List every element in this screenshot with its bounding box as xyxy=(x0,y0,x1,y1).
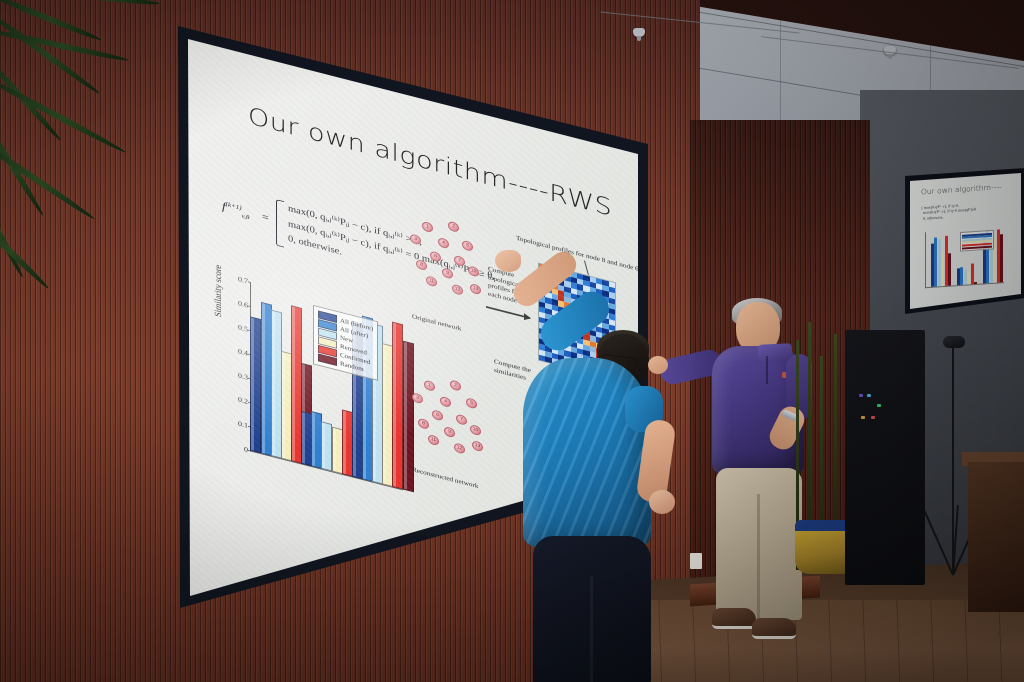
network-node: 6 xyxy=(432,409,443,421)
chart-plot-area: 00.10.20.30.40.50.60.7 All (before)All (… xyxy=(250,282,403,490)
conference-room-scene: Our own algorithm----RWS f(k+1)v,θ = max… xyxy=(0,0,1024,682)
network-node: 8 xyxy=(416,259,427,271)
network-node: 8 xyxy=(418,418,429,430)
network-node: 6 xyxy=(430,250,441,262)
network-node: 1 xyxy=(422,221,433,233)
original-network-label: Original network xyxy=(412,313,461,332)
monitor-slide-content: Our own algorithm---- { max(0,qⁱPⁱ−c), i… xyxy=(915,177,1019,299)
palm-plant-left xyxy=(0,0,170,312)
wooden-podium xyxy=(968,462,1024,612)
chart-tick-mark xyxy=(248,306,251,308)
presenter-1-pointing-hand xyxy=(495,250,521,272)
polo-placket xyxy=(766,356,768,384)
monitor-chart-bar xyxy=(974,281,977,284)
equation-brace xyxy=(276,199,284,247)
monitor-bar-chart xyxy=(925,227,1004,288)
network-node: 5 xyxy=(462,240,473,252)
wall-outlet xyxy=(690,553,702,569)
network-node: 3 xyxy=(410,233,421,245)
presenter-1-hand xyxy=(649,490,675,514)
chart-y-tick: 0.5 xyxy=(238,323,248,333)
network-node: 9 xyxy=(442,267,453,279)
chart-y-tick: 0.2 xyxy=(238,395,248,405)
av-equipment-rack xyxy=(845,330,925,585)
network-node: 13 xyxy=(470,283,481,295)
network-node: 10 xyxy=(468,265,479,277)
slide-title: Our own algorithm----RWS xyxy=(248,103,612,223)
network-node: 3 xyxy=(412,392,423,404)
network-node: 12 xyxy=(454,442,465,454)
monitor-chart-bar xyxy=(948,253,951,285)
secondary-monitor[interactable]: Our own algorithm---- { max(0,qⁱPⁱ−c), i… xyxy=(905,168,1024,316)
camera-icon xyxy=(943,336,965,348)
monitor-chart-bar xyxy=(1000,234,1003,282)
shoe-left xyxy=(712,608,756,629)
network-node: 13 xyxy=(472,440,483,452)
network-node: 10 xyxy=(470,424,481,436)
network-node: 4 xyxy=(440,396,451,408)
monitor-chart-legend xyxy=(960,230,994,252)
network-node: 11 xyxy=(428,434,439,446)
network-node: 2 xyxy=(448,221,459,233)
chart-tick-mark xyxy=(248,281,251,283)
presenter-1-lowered-arm xyxy=(625,386,669,502)
network-node: 2 xyxy=(450,379,461,391)
network-node: 1 xyxy=(424,380,435,392)
network-node: 7 xyxy=(454,255,465,267)
similarity-score-bar-chart: Similarity score 00.10.20.30.40.50.60.7 … xyxy=(220,269,410,515)
monitor-slide-title: Our own algorithm---- xyxy=(921,182,1002,196)
chart-y-tick: 0.4 xyxy=(238,347,248,357)
chart-y-axis-label: Similarity score xyxy=(214,264,224,319)
monitor-equation: { max(0,qⁱPⁱ−c), if q>0, max(0,qⁱPⁱ−c), … xyxy=(921,202,976,221)
network-node: 9 xyxy=(444,426,455,438)
equation-equals: = xyxy=(262,210,269,225)
chart-legend: All (before)All (after)NewRemovedConfirm… xyxy=(313,305,378,381)
network-node: 5 xyxy=(466,397,477,409)
chart-y-tick: 0.1 xyxy=(238,419,248,429)
polo-collar xyxy=(758,343,793,361)
network-node: 4 xyxy=(438,237,449,249)
presenter-1-dark-trousers xyxy=(533,536,651,682)
chart-y-tick: 0.7 xyxy=(238,275,248,285)
network-node: 12 xyxy=(452,284,463,296)
shoe-right xyxy=(752,618,796,639)
reconstructed-network-label: Reconstructed network xyxy=(412,466,478,490)
equation-lhs: f(k+1)v,θ xyxy=(222,199,249,221)
chart-y-tick: 0.6 xyxy=(238,299,248,309)
network-node: 7 xyxy=(456,414,467,426)
chart-y-tick: 0.3 xyxy=(238,371,248,381)
network-node: 11 xyxy=(426,275,437,287)
presenter-2-left-hand xyxy=(648,356,668,374)
